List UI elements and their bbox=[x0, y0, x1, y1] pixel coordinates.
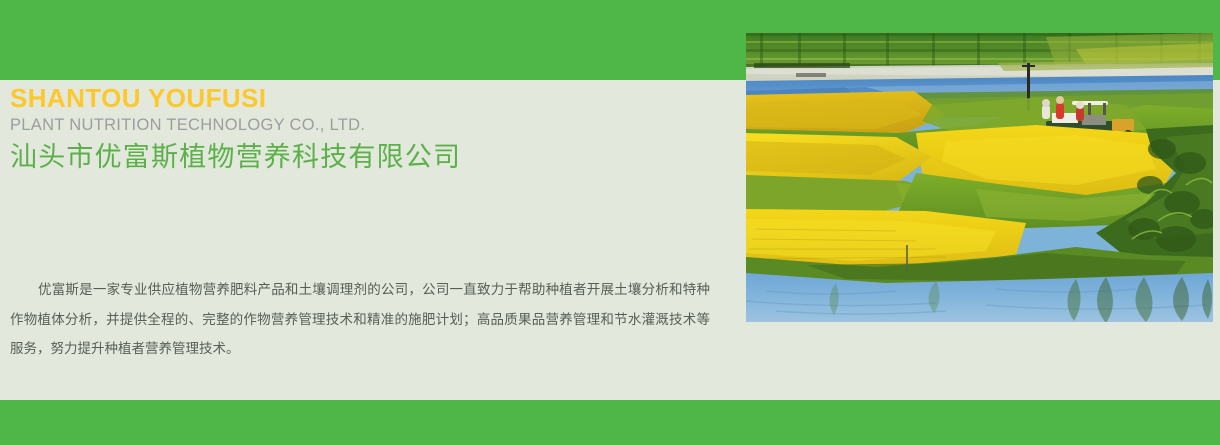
brand-subtitle-english: PLANT NUTRITION TECHNOLOGY CO., LTD. bbox=[10, 115, 710, 136]
hero-photo bbox=[746, 33, 1213, 322]
brand-name-english: SHANTOU YOUFUSI bbox=[10, 84, 710, 112]
brand-name-chinese: 汕头市优富斯植物营养科技有限公司 bbox=[10, 141, 710, 175]
brand-block: SHANTOU YOUFUSI PLANT NUTRITION TECHNOLO… bbox=[10, 84, 710, 174]
footer-band bbox=[0, 400, 1220, 445]
page-root: SHANTOU YOUFUSI PLANT NUTRITION TECHNOLO… bbox=[0, 0, 1220, 445]
rice-field-illustration bbox=[746, 33, 1213, 322]
company-intro-paragraph: 优富斯是一家专业供应植物营养肥料产品和土壤调理剂的公司，公司一直致力于帮助种植者… bbox=[10, 276, 710, 365]
